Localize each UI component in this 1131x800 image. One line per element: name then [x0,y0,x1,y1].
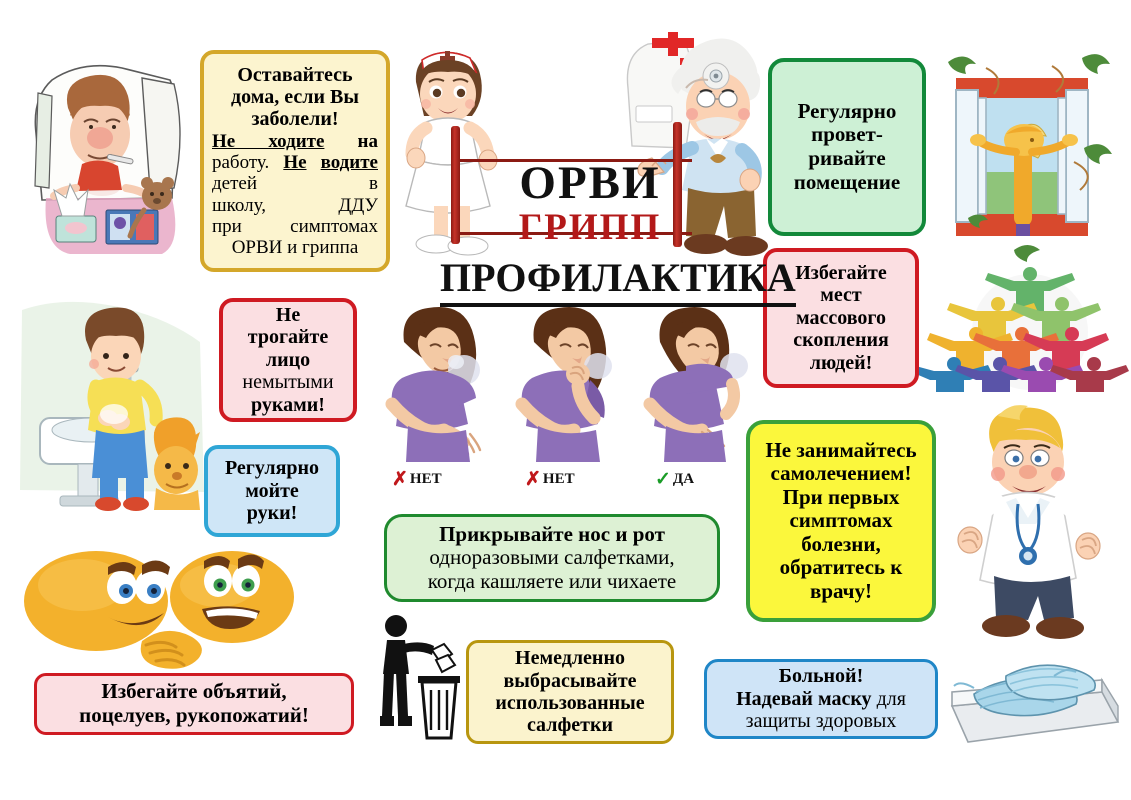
wear-mask-l2-bold: Надевай маску [736,688,871,710]
stay-home-no: Не [283,152,306,173]
box-stay-home: Оставайтесь дома, если Вы заболели! Не х… [200,50,390,272]
avoid-crowds-l3: массового [767,307,915,329]
verdict-label: НЕТ [543,471,575,488]
avoid-crowds-l4: скопления [767,329,915,351]
no-self-treatment-l6: обратитесь к [750,556,932,580]
person-opening-window-illustration [934,42,1124,282]
sick-child-in-bed-illustration [22,38,202,283]
no-self-treatment-l1: Не занимайтесь [750,439,932,463]
verdict-label: НЕТ [410,471,442,488]
box-cover-nose-mouth: Прикрывайте нос и рот одноразовыми салфе… [384,514,720,602]
box-discard-tissues: Немедленно выбрасывайте использованные с… [466,640,674,744]
avoid-contact-l2: поцелуев, рукопожатий! [37,704,351,728]
stay-home-no-go: Не ходите [212,131,324,152]
box-ventilate: Регулярно провет- ривайте помещение [768,58,926,236]
wash-hands-l3: руки! [208,502,336,524]
box-avoid-contact: Избегайте объятий, поцелуев, рукопожатий… [34,673,354,735]
verdict-no-1: ✗ НЕТ [392,470,442,489]
title-gripp: ГРИПП [440,207,740,250]
ventilate-l2: провет- [772,123,922,147]
wear-mask-l1: Больной! [707,665,935,687]
girl-coughing-into-elbow-illustration [646,300,758,465]
dont-touch-face-l3: лицо [223,349,353,371]
two-smileys-shaking-hands-illustration [22,545,262,675]
stay-home-l2: дома, если Вы [212,86,378,108]
cross-icon: ✗ [525,470,541,489]
stay-home-no-take: водите [321,152,378,173]
no-self-treatment-l5: болезни, [750,533,932,557]
cover-nose-mouth-l3: когда кашляете или чихаете [387,570,717,594]
title-profilaktika: ПРОФИЛАКТИКА [440,254,796,307]
girl-coughing-open-air-illustration [386,300,498,465]
no-self-treatment-l3: При первых [750,486,932,510]
girl-coughing-into-hand-illustration [516,300,628,465]
wear-mask-l3: защиты здоровых [707,710,935,732]
box-wear-mask: Больной! Надевай маску для защиты здоров… [704,659,938,739]
dont-touch-face-l4: немытыми [223,371,353,393]
box-no-self-treatment: Не занимайтесь самолечением! При первых … [746,420,936,622]
ventilate-l4: помещение [772,171,922,195]
title-orvi: ОРВИ [440,160,740,207]
dont-touch-face-l2: трогайте [223,326,353,348]
discard-tissues-l2: выбрасывайте [469,670,671,692]
dont-touch-face-l5: руками! [223,394,353,416]
no-self-treatment-l7: врачу! [750,580,932,604]
ventilate-l3: ривайте [772,147,922,171]
doctor-with-stethoscope-illustration [940,400,1120,660]
throw-in-bin-pictogram [370,612,462,748]
avoid-contact-l1: Избегайте объятий, [37,680,351,704]
stay-home-l8: при симптомах [212,216,378,237]
verdict-label: ДА [673,471,694,488]
verdict-yes-3: ✓ ДА [655,470,694,489]
child-washing-hands-illustration [16,300,226,520]
stay-home-l3: заболели! [212,108,378,130]
avoid-crowds-l5: людей! [767,352,915,374]
wash-hands-l2: мойте [208,480,336,502]
no-self-treatment-l2: самолечением! [750,462,932,486]
cover-nose-mouth-l1: Прикрывайте нос и рот [387,523,717,547]
cover-nose-mouth-l2: одноразовыми салфетками, [387,546,717,570]
stay-home-l9: ОРВИ и гриппа [212,237,378,258]
poster-canvas: Оставайтесь дома, если Вы заболели! Не х… [0,0,1131,800]
wash-hands-l1: Регулярно [208,457,336,479]
no-self-treatment-l4: симптомах [750,509,932,533]
check-icon: ✓ [655,470,671,489]
box-dont-touch-face: Не трогайте лицо немытыми руками! [219,298,357,422]
stay-home-l7: школу, ДДУ [212,195,378,216]
box-wash-hands: Регулярно мойте руки! [204,445,340,537]
ventilate-l1: Регулярно [772,100,922,124]
verdict-no-2: ✗ НЕТ [525,470,575,489]
discard-tissues-l4: салфетки [469,714,671,736]
poster-title-block: ОРВИ ГРИПП ПРОФИЛАКТИКА [440,160,740,307]
discard-tissues-l1: Немедленно [469,647,671,669]
box-of-medical-masks-illustration [944,648,1124,760]
crowd-of-people-illustration [932,262,1128,392]
dont-touch-face-l1: Не [223,304,353,326]
stay-home-l1: Оставайтесь [212,64,378,86]
wear-mask-l2-reg: для [872,688,906,710]
discard-tissues-l3: использованные [469,692,671,714]
cross-icon: ✗ [392,470,408,489]
